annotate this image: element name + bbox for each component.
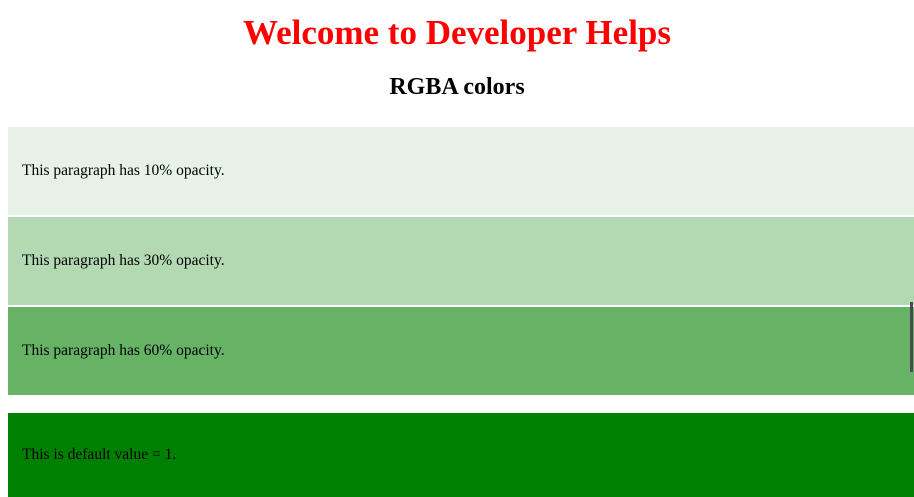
- rgba-swatch-60-label: This paragraph has 60% opacity.: [22, 342, 225, 361]
- rgba-swatch-default: This is default value = 1.: [8, 413, 914, 497]
- page-subtitle: RGBA colors: [0, 53, 914, 102]
- scrollbar-thumb[interactable]: [910, 302, 913, 372]
- rgba-swatch-10: This paragraph has 10% opacity.: [8, 127, 914, 215]
- rgba-swatch-60: This paragraph has 60% opacity.: [8, 307, 914, 395]
- rgba-swatch-10-label: This paragraph has 10% opacity.: [22, 162, 225, 181]
- page-root: Welcome to Developer Helps RGBA colors T…: [0, 0, 914, 497]
- rgba-swatch-default-label: This is default value = 1.: [22, 446, 176, 465]
- rgba-swatch-30-label: This paragraph has 30% opacity.: [22, 252, 225, 271]
- rgba-swatch-stack: This paragraph has 10% opacity. This par…: [0, 127, 914, 395]
- vertical-scrollbar[interactable]: [910, 0, 914, 497]
- page-title: Welcome to Developer Helps: [0, 0, 914, 53]
- rgba-swatch-30: This paragraph has 30% opacity.: [8, 217, 914, 305]
